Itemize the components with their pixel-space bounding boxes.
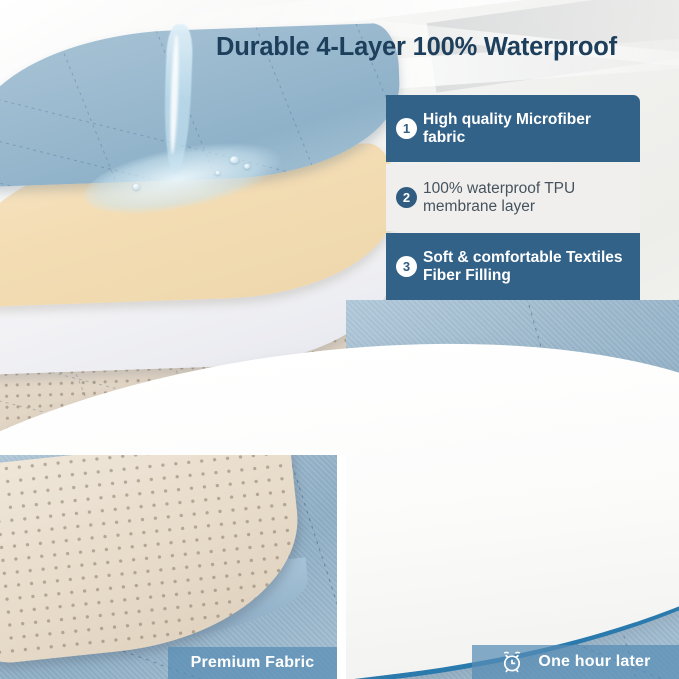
feature-row-1: 1 High quality Microfiber fabric	[386, 95, 640, 162]
premium-fabric-photo	[0, 455, 337, 679]
premium-fabric-badge: Premium Fabric	[168, 647, 337, 679]
premium-fabric-label: Premium Fabric	[191, 654, 315, 672]
photo-separator	[337, 455, 346, 679]
one-hour-later-badge: One hour later	[472, 645, 679, 679]
feature-number-badge: 2	[396, 187, 417, 208]
feature-label: 100% waterproof TPU membrane layer	[423, 180, 632, 215]
feature-number-badge: 1	[396, 118, 417, 139]
page-title: Durable 4-Layer 100% Waterproof	[216, 33, 666, 62]
feature-row-2: 2 100% waterproof TPU membrane layer	[386, 164, 640, 231]
alarm-clock-icon	[500, 650, 524, 674]
feature-number-badge: 3	[396, 256, 417, 277]
one-hour-later-label: One hour later	[538, 653, 650, 671]
product-infographic: Durable 4-Layer 100% Waterproof 1 High q…	[0, 0, 679, 679]
feature-label: Soft & comfortable Textiles Fiber Fillin…	[423, 249, 632, 284]
feature-label: High quality Microfiber fabric	[423, 111, 632, 146]
feature-row-3: 3 Soft & comfortable Textiles Fiber Fill…	[386, 233, 640, 300]
